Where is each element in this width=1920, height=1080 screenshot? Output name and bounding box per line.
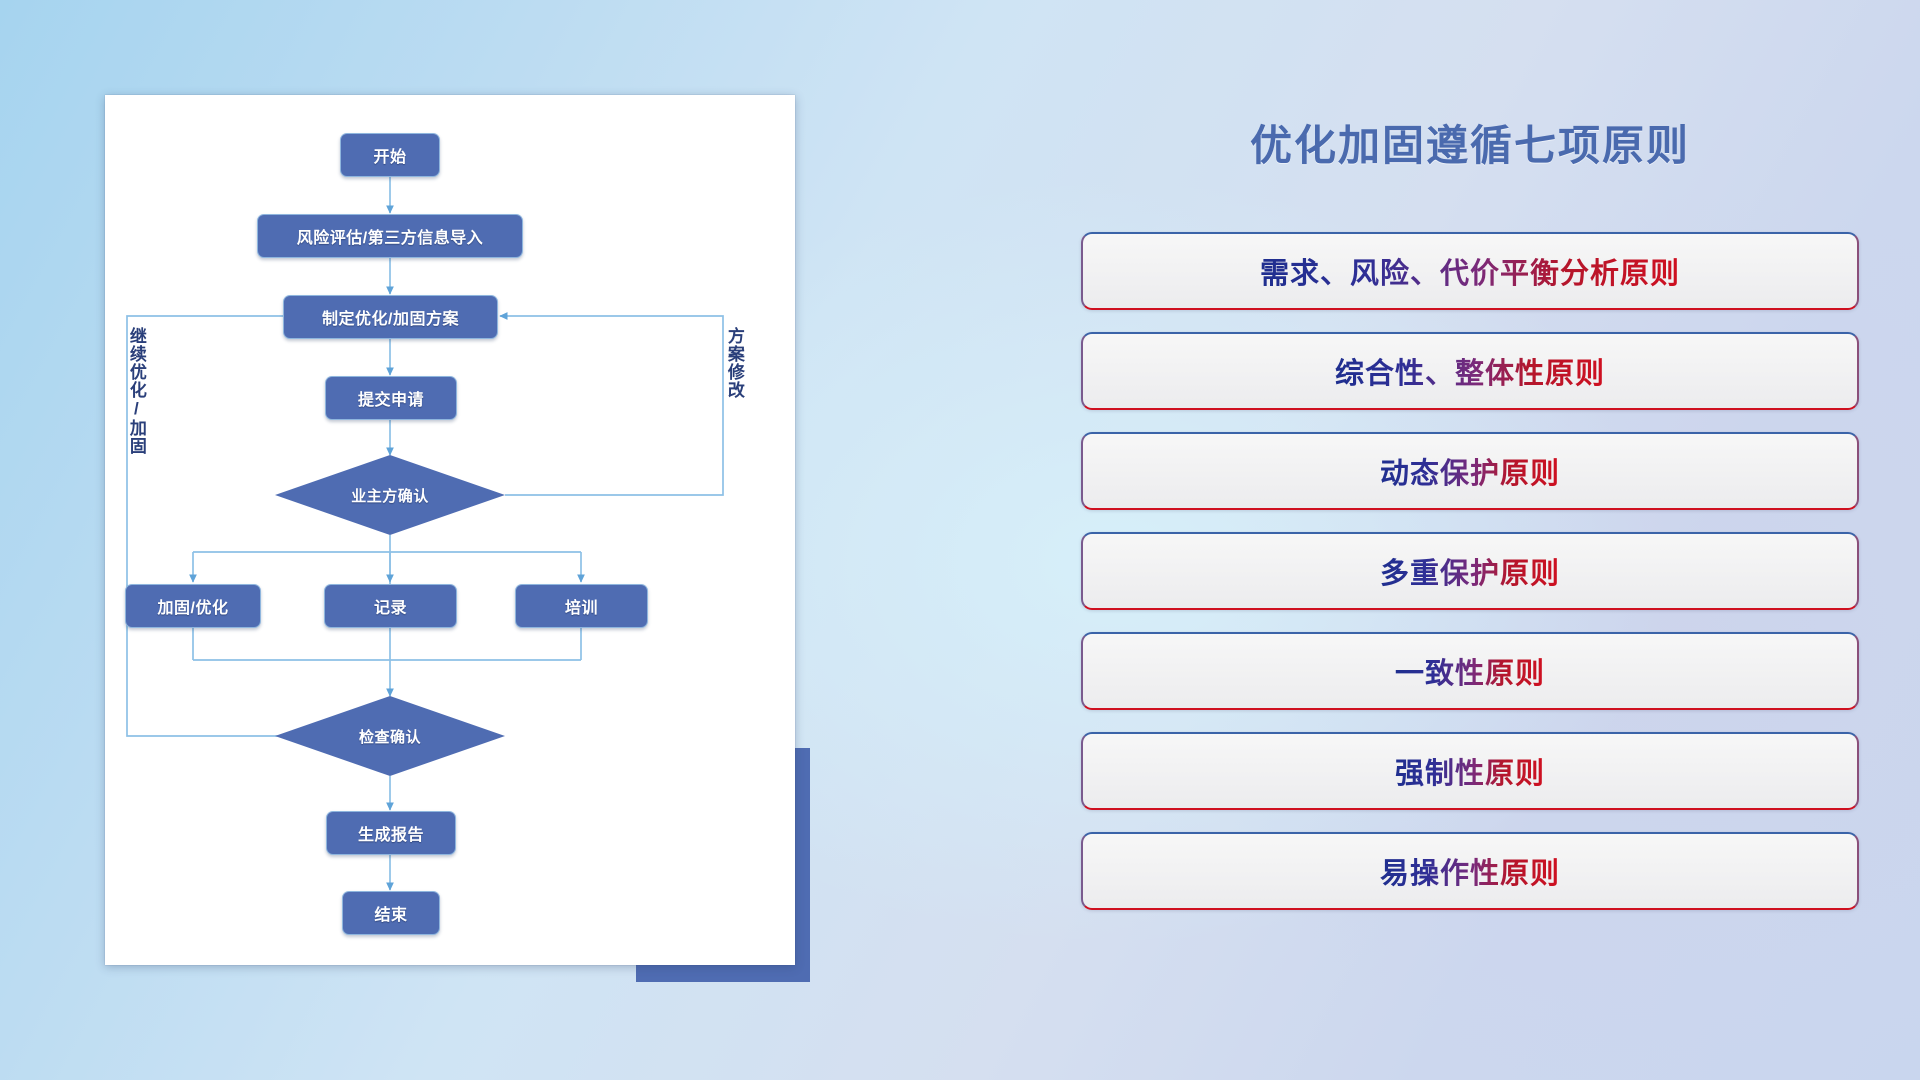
flow-node-end[interactable]: 结束 xyxy=(342,891,440,935)
principles-title: 优化加固遵循七项原则 xyxy=(1020,112,1920,173)
principles-list: 需求、风险、代价平衡分析原则 综合性、整体性原则 动态保护原则 多重保护原则 一… xyxy=(1020,232,1920,932)
principle-label: 动态保护原则 xyxy=(1380,450,1560,492)
principle-label: 易操作性原则 xyxy=(1380,850,1560,892)
flow-node-training[interactable]: 培训 xyxy=(515,584,648,628)
flow-node-label: 业主方确认 xyxy=(351,485,429,506)
principle-item[interactable]: 动态保护原则 xyxy=(1081,432,1859,510)
flow-node-label: 结束 xyxy=(374,901,407,925)
flow-node-start[interactable]: 开始 xyxy=(340,133,440,177)
flow-node-label: 生成报告 xyxy=(358,821,424,845)
principles-panel: 优化加固遵循七项原则 需求、风险、代价平衡分析原则 综合性、整体性原则 动态保护… xyxy=(1020,0,1920,1080)
principle-item[interactable]: 多重保护原则 xyxy=(1081,532,1859,610)
flow-node-risk-assessment[interactable]: 风险评估/第三方信息导入 xyxy=(257,214,523,258)
flowchart-card: 继续优化/加固 方案修改 开始 风险评估/第三方信息导入 制定优化/加固方案 提… xyxy=(105,95,795,965)
principle-item[interactable]: 需求、风险、代价平衡分析原则 xyxy=(1081,232,1859,310)
principle-item[interactable]: 易操作性原则 xyxy=(1081,832,1859,910)
flow-node-reinforce-optimize[interactable]: 加固/优化 xyxy=(125,584,261,628)
flow-node-label: 提交申请 xyxy=(358,386,424,410)
principle-item[interactable]: 综合性、整体性原则 xyxy=(1081,332,1859,410)
flow-node-owner-confirm[interactable]: 业主方确认 xyxy=(275,455,505,535)
flow-node-label: 加固/优化 xyxy=(158,594,229,618)
principle-label: 综合性、整体性原则 xyxy=(1335,350,1605,392)
principle-label: 强制性原则 xyxy=(1395,750,1545,792)
principle-label: 多重保护原则 xyxy=(1380,550,1560,592)
loop-label-continue-optimize: 继续优化/加固 xyxy=(127,327,145,455)
flow-node-label: 风险评估/第三方信息导入 xyxy=(297,224,483,248)
flow-node-label: 检查确认 xyxy=(359,726,421,747)
flow-node-make-plan[interactable]: 制定优化/加固方案 xyxy=(283,295,498,339)
principle-label: 需求、风险、代价平衡分析原则 xyxy=(1260,250,1680,292)
loop-label-plan-revision: 方案修改 xyxy=(725,327,743,399)
flow-node-record[interactable]: 记录 xyxy=(324,584,457,628)
flow-node-generate-report[interactable]: 生成报告 xyxy=(326,811,456,855)
flow-node-label: 培训 xyxy=(565,594,598,618)
flow-node-check-confirm[interactable]: 检查确认 xyxy=(275,696,505,776)
principle-label: 一致性原则 xyxy=(1395,650,1545,692)
flow-node-label: 记录 xyxy=(374,594,407,618)
flow-node-label: 开始 xyxy=(373,143,406,167)
principle-item[interactable]: 强制性原则 xyxy=(1081,732,1859,810)
flow-node-label: 制定优化/加固方案 xyxy=(322,305,459,329)
principle-item[interactable]: 一致性原则 xyxy=(1081,632,1859,710)
flow-node-submit-application[interactable]: 提交申请 xyxy=(325,376,457,420)
flowchart-panel: 继续优化/加固 方案修改 开始 风险评估/第三方信息导入 制定优化/加固方案 提… xyxy=(0,0,1020,1080)
